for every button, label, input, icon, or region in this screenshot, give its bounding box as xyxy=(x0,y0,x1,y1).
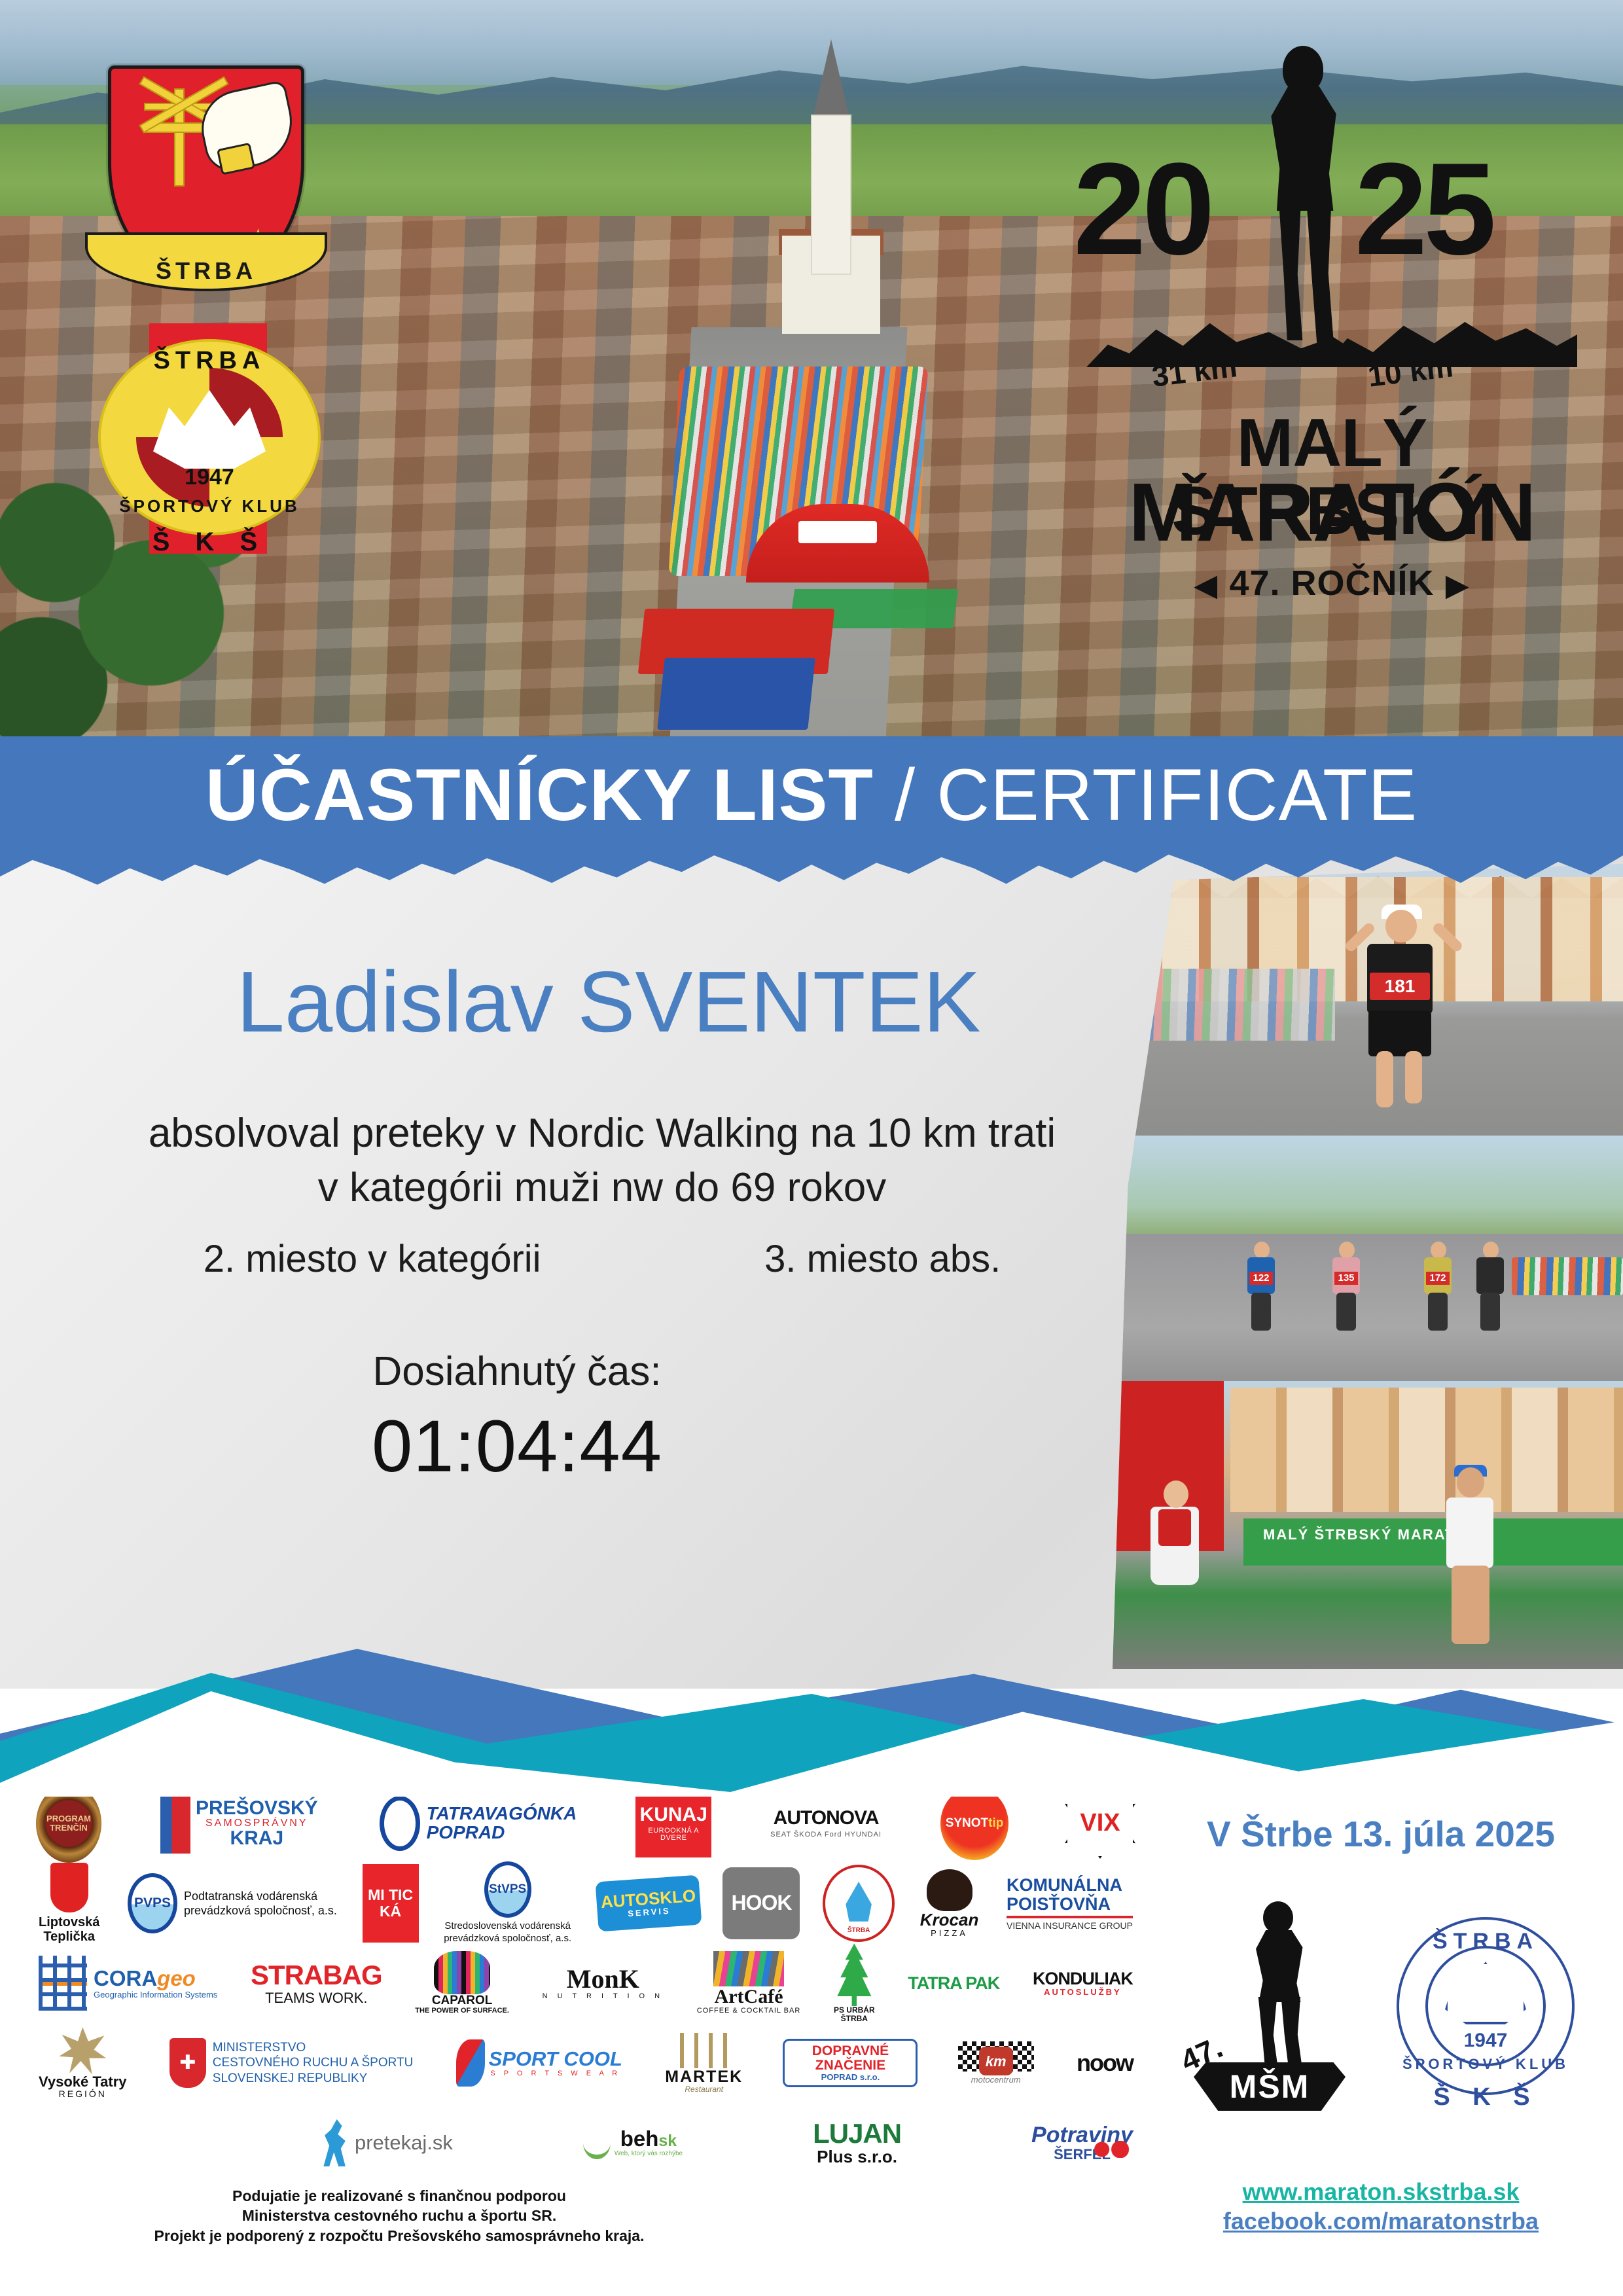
runner-leg-right xyxy=(1405,1051,1422,1103)
sponsor-sub: PIZZA xyxy=(931,1929,968,1938)
sponsor-sub: SERVIS xyxy=(628,1907,671,1918)
sponsor-name: TATRA PAK xyxy=(908,1974,999,1992)
runner-bib-number: 135 xyxy=(1334,1272,1358,1285)
sponsor-potraviny-serfel[interactable]: Potraviny ŠERFEL xyxy=(1029,2124,1135,2162)
sponsor-beh-sk[interactable]: behsk Web, ktorý vás rozhýbe xyxy=(580,2126,685,2159)
sponsor-sub2: SLOVENSKEJ REPUBLIKY xyxy=(213,2072,368,2085)
runner-bib-number: 181 xyxy=(1370,973,1430,1000)
sponsor-sub: Restaurant xyxy=(685,2085,723,2094)
club-abbreviation: Š K Š xyxy=(98,528,321,557)
sponsor-name: CORA xyxy=(94,1966,157,1990)
sponsor-name: MINISTERSTVO xyxy=(213,2041,306,2054)
tree-icon xyxy=(834,1943,874,2006)
sponsor-name: SPORT COOL xyxy=(489,2047,622,2070)
sports-club-emblem: ŠTRBA 1947 ŠPORTOVÝ KLUB Š K Š xyxy=(98,327,321,550)
female-runner: 181 xyxy=(1345,895,1463,1111)
sponsor-name: KOMUNÁLNA xyxy=(1007,1876,1122,1894)
sponsor-name: MARTEK xyxy=(665,2068,743,2085)
sponsor-logo-grid: PROGRAM TRENČÍN PREŠOVSKÝ SAMOSPRÁVNY KR… xyxy=(36,1784,1135,2189)
sponsor-sub: CESTOVNÉHO RUCHU A ŠPORTU xyxy=(213,2056,414,2070)
absolute-placement: 3. miesto abs. xyxy=(764,1237,1001,1281)
funding-line-1: Podujatie je realizované s finančnou pod… xyxy=(26,2186,772,2206)
contact-links: www.maraton.skstrba.sk facebook.com/mara… xyxy=(1165,2177,1597,2236)
sponsor-name: PVPS xyxy=(128,1873,177,1933)
event-name-line2: MARATÓN xyxy=(1073,471,1590,554)
description-line-1: absolvoval preteky v Nordic Walking na 1… xyxy=(92,1106,1113,1160)
runner-shorts xyxy=(1368,1011,1431,1056)
sponsor-sub: Plus s.r.o. xyxy=(817,2148,897,2166)
artcafe-stripes-icon xyxy=(713,1951,784,1986)
website-link[interactable]: www.maraton.skstrba.sk xyxy=(1165,2177,1597,2206)
photo-finish-celebration: 181 xyxy=(1113,864,1623,1145)
sponsor-name: CAPAROL xyxy=(432,1994,493,2007)
sponsor-sub2: Geographic Information Systems xyxy=(94,1990,217,2000)
funding-statement: Podujatie je realizované s finančnou pod… xyxy=(26,2186,772,2246)
certificate-title: ÚČASTNÍCKY LIST / CERTIFICATE xyxy=(205,759,1418,832)
finish-time-value: 01:04:44 xyxy=(92,1404,942,1488)
sponsor-sub: AUTOSLUŽBY xyxy=(1044,1988,1122,1997)
title-english: CERTIFICATE xyxy=(936,754,1418,836)
sponsor-name: MonK xyxy=(567,1965,639,1993)
sponsor-pd-strba[interactable]: ŠTRBA xyxy=(823,1865,895,1942)
sponsor-sub: EUROOKNÁ A DVERE xyxy=(638,1827,709,1842)
runner-group-member: 122 xyxy=(1243,1235,1279,1333)
presov-flame-icon xyxy=(160,1793,190,1854)
event-edition: ◀47. ROČNÍK▶ xyxy=(1073,563,1590,603)
sponsor-footer: PROGRAM TRENČÍN PREŠOVSKÝ SAMOSPRÁVNY KR… xyxy=(0,1767,1623,2296)
arrow-left-icon: ◀ xyxy=(1195,569,1218,602)
runner-bib-number: 172 xyxy=(1426,1272,1450,1285)
sponsor-sub: POPRAD s.r.o. xyxy=(821,2073,880,2082)
footer-right-column: V Štrbe 13. júla 2025 47. MŠM ŠTRBA 1947… xyxy=(1165,1787,1597,2206)
sponsor-sub: POISŤOVŇA xyxy=(1007,1895,1111,1913)
sponsor-name: km xyxy=(979,2047,1013,2075)
sponsor-lujan-plus[interactable]: LUJAN Plus s.r.o. xyxy=(810,2119,904,2166)
sponsor-name: Krocan xyxy=(920,1911,979,1929)
blue-tent xyxy=(657,658,815,730)
msm-badge: 47. MŠM xyxy=(1178,1901,1361,2111)
stamp-top-text: ŠTRBA xyxy=(1387,1929,1584,1954)
sponsor-sub: Podtatranská vodárenská xyxy=(184,1890,317,1903)
sponsor-name: MI TIC KÁ xyxy=(365,1887,416,1920)
folk-costume-girl xyxy=(1139,1473,1211,1604)
sponsor-sub: COFFEE & COCKTAIL BAR xyxy=(697,2007,801,2015)
sponsor-name: STRABAG xyxy=(251,1961,382,1990)
msm-abbreviation: MŠM xyxy=(1194,2062,1346,2111)
sponsor-row: pretekaj.sk behsk Web, ktorý vás rozhýbe… xyxy=(36,2103,1135,2183)
runner-group-member: 172 xyxy=(1420,1235,1455,1333)
sponsor-row: Liptovská Teplička PVPS Podtatranská vod… xyxy=(36,1863,1135,1943)
church-tower xyxy=(811,115,851,275)
sponsor-name: VIX xyxy=(1080,1810,1120,1837)
sponsor-presovsky-kraj[interactable]: PREŠOVSKÝ SAMOSPRÁVNY KRAJ xyxy=(158,1793,321,1854)
sponsor-martek-restaurant[interactable]: MARTEK Restaurant xyxy=(662,2033,745,2094)
runner-silhouette-icon xyxy=(1250,46,1355,353)
funding-line-3: Projekt je podporený z rozpočtu Prešovsk… xyxy=(26,2226,772,2246)
water-drop-icon xyxy=(842,1882,876,1925)
sponsor-sub: motocentrum xyxy=(971,2075,1021,2085)
issue-date: V Štrbe 13. júla 2025 xyxy=(1165,1813,1597,1855)
sponsor-tatrapak[interactable]: TATRA PAK xyxy=(905,1974,1002,1992)
sponsor-name: ArtCafé xyxy=(715,1986,783,2007)
sponsor-name: Liptovská xyxy=(39,1915,99,1929)
recipient-name: Ladislav SVENTEK xyxy=(105,959,1113,1045)
sponsor-name: KONDULIAK xyxy=(1033,1969,1133,1988)
arrow-right-icon: ▶ xyxy=(1446,569,1469,602)
finish-time-label: Dosiahnutý čas: xyxy=(92,1348,942,1395)
event-edition-text: 47. ROČNÍK xyxy=(1229,564,1434,603)
sponsor-row: CORAgeo Geographic Information Systems S… xyxy=(36,1943,1135,2023)
runner-pack xyxy=(1512,1257,1623,1295)
runner-head xyxy=(1385,910,1417,942)
start-arch-label: ŠTART xyxy=(813,522,863,539)
sponsor-name: HOOK xyxy=(731,1892,791,1914)
sponsor-sub: sk xyxy=(658,2132,677,2150)
sponsor-miticka[interactable]: MI TIC KÁ xyxy=(363,1864,419,1943)
turkey-icon xyxy=(927,1869,972,1911)
edelweiss-icon xyxy=(59,2027,106,2074)
sponsor-name: noow xyxy=(1077,2051,1133,2075)
club-bottom-text: ŠPORTOVÝ KLUB xyxy=(98,496,321,516)
sponsor-autonova[interactable]: AUTONOVA SEAT ŠKODA Ford HYUNDAI xyxy=(768,1808,884,1839)
sponsor-sub: N U T R I T I O N xyxy=(543,1993,664,2001)
sks-club-stamp: ŠTRBA 1947 ŠPORTOVÝ KLUB Š K Š xyxy=(1387,1901,1584,2117)
sponsor-pretekaj-sk[interactable]: pretekaj.sk xyxy=(318,2119,455,2166)
photo-course-group: 122 135 172 xyxy=(1113,1136,1623,1391)
sponsor-sub: S P O R T S W E A R xyxy=(489,2070,622,2078)
sponsor-sub: ŠTRBA xyxy=(825,1928,892,1935)
mountain-wave-divider xyxy=(0,1590,1623,1793)
sponsor-name: DOPRAVNÉ ZNAČENIE xyxy=(787,2044,913,2073)
sponsor-sub: Teplička xyxy=(43,1929,95,1944)
runner-leg-left xyxy=(1376,1051,1393,1107)
sponsor-sub2: prevádzková spoločnosť, a.s. xyxy=(444,1933,571,1944)
sponsor-komunalna-poistovna[interactable]: KOMUNÁLNA POISŤOVŇA VIENNA INSURANCE GRO… xyxy=(1004,1876,1135,1930)
sponsor-sub2: Web, ktorý vás rozhýbe xyxy=(615,2151,683,2158)
serfel-dots-icon xyxy=(1094,2141,1139,2158)
sponsor-sub: tip xyxy=(988,1817,1003,1830)
runner-group-member: 135 xyxy=(1329,1235,1364,1333)
sponsor-sub: ŠTRBA xyxy=(841,2015,868,2023)
sponsor-strabag[interactable]: STRABAG TEAMS WORK. xyxy=(248,1961,385,2005)
liptovska-crest-icon xyxy=(50,1863,88,1912)
sponsor-kunaj[interactable]: KUNAJ EUROOKNÁ A DVERE xyxy=(635,1789,711,1857)
sponsor-name: pretekaj.sk xyxy=(355,2132,453,2154)
funding-line-2: Ministerstva cestovného ruchu a športu S… xyxy=(26,2206,772,2225)
sponsor-sub: geo xyxy=(157,1966,196,1990)
sponsor-row: Vysoké Tatry REGIÓN ✚ MINISTERSTVO CESTO… xyxy=(36,2023,1135,2103)
sponsor-sub2: SEAT ŠKODA Ford HYUNDAI xyxy=(770,1831,882,1839)
sponsor-konduliak[interactable]: KONDULIAK AUTOSLUŽBY xyxy=(1030,1969,1135,1997)
sponsor-sub: TEAMS WORK. xyxy=(265,1990,367,2005)
corageo-grid-icon xyxy=(39,1956,87,2011)
sponsor-pvps[interactable]: PVPS Podtatranská vodárenská prevádzková… xyxy=(125,1873,340,1933)
msm-runner-icon xyxy=(1238,1901,1317,2065)
race-photo-collage: 181 122 135 172 xyxy=(1113,864,1623,1669)
sponsor-autosklo-servis[interactable]: AUTOSKLO SERVIS xyxy=(595,1875,702,1932)
sponsor-monk-nutrition[interactable]: MonK N U T R I T I O N xyxy=(540,1965,667,2001)
spectators-crowd xyxy=(1139,969,1335,1041)
divider-line xyxy=(1007,1916,1133,1918)
sponsor-sub: POPRAD xyxy=(427,1822,505,1842)
sponsor-corageo[interactable]: CORAgeo Geographic Information Systems xyxy=(36,1956,220,2011)
runner-arm-right xyxy=(1431,921,1464,953)
sponsor-ps-urbar-strba[interactable]: PS URBÁR ŠTRBA xyxy=(831,1943,878,2022)
marathon-event-logo: 20 25 31 km 10 km MALÝ ŠTRBSKÝ MARATÓN ◀… xyxy=(1073,46,1590,609)
sponsor-sub: TRENČÍN xyxy=(50,1823,88,1833)
title-separator: / xyxy=(874,754,936,836)
runner-bib-number: 122 xyxy=(1249,1272,1273,1285)
sponsor-name: beh xyxy=(620,2126,659,2151)
sponsor-vix[interactable]: VIX xyxy=(1065,1788,1135,1859)
sponsor-tatravagonka-poprad[interactable]: TATRAVAGÓNKA POPRAD xyxy=(377,1796,580,1851)
caparol-elephant-icon xyxy=(434,1951,490,1994)
church-building xyxy=(808,39,854,314)
runner-icon xyxy=(321,2119,349,2166)
sponsor-name: Vysoké Tatry xyxy=(39,2074,127,2089)
sponsor-sub2: prevádzková spoločnosť, a.s. xyxy=(184,1904,337,1917)
stamp-abbreviation: Š K Š xyxy=(1387,2083,1584,2111)
sponsor-ministerstvo[interactable]: ✚ MINISTERSTVO CESTOVNÉHO RUCHU A ŠPORTU… xyxy=(167,2038,416,2088)
sponsor-noow[interactable]: noow xyxy=(1074,2051,1135,2075)
sponsor-km-motocentrum[interactable]: km motocentrum xyxy=(955,2041,1037,2085)
certificate-title-bar: ÚČASTNÍCKY LIST / CERTIFICATE xyxy=(0,736,1623,854)
logo-year-right: 25 xyxy=(1355,144,1492,275)
crest-name-text: ŠTRBA xyxy=(156,257,257,285)
sponsor-name: KUNAJ xyxy=(640,1804,707,1825)
slovak-coat-of-arms-icon: ✚ xyxy=(169,2038,206,2088)
facebook-link[interactable]: facebook.com/maratonstrba xyxy=(1165,2206,1597,2236)
placement-row: 2. miesto v kategórii 3. miesto abs. xyxy=(92,1237,1113,1281)
runner-group-member xyxy=(1472,1235,1508,1333)
sponsor-sub2: KRAJ xyxy=(196,1829,318,1848)
sportcool-swoosh-icon xyxy=(456,2039,485,2087)
club-founding-year: 1947 xyxy=(98,465,321,490)
logo-year-left: 20 xyxy=(1073,144,1211,275)
sponsor-name: PROGRAM xyxy=(46,1814,91,1823)
sponsor-hook[interactable]: HOOK xyxy=(722,1867,800,1939)
sponsor-sub: Stredoslovenská vodárenská xyxy=(444,1920,571,1931)
sponsor-caparol[interactable]: CAPAROL THE POWER OF SURFACE. xyxy=(412,1951,512,2015)
sponsor-sportcool[interactable]: SPORT COOL S P O R T S W E A R xyxy=(454,2039,625,2087)
sponsor-liptovska-teplicka[interactable]: Liptovská Teplička xyxy=(36,1863,102,1944)
description-line-2: v kategórii muži nw do 69 rokov xyxy=(92,1160,1113,1215)
sponsor-name: AUTONOVA xyxy=(774,1808,879,1829)
sponsor-name: TATRAVAGÓNKA xyxy=(427,1803,577,1823)
sponsor-sub: THE POWER OF SURFACE. xyxy=(415,2007,509,2015)
title-slovak: ÚČASTNÍCKY LIST xyxy=(205,754,874,836)
stamp-bottom-text: ŠPORTOVÝ KLUB xyxy=(1387,2056,1584,2073)
achievement-description: absolvoval preteky v Nordic Walking na 1… xyxy=(92,1106,1113,1215)
beh-arc-icon xyxy=(583,2126,611,2159)
sponsor-krocan-pizza[interactable]: Krocan PIZZA xyxy=(918,1869,982,1938)
sponsor-name: PREŠOVSKÝ xyxy=(196,1799,318,1818)
sponsor-dopravne-znacenie[interactable]: DOPRAVNÉ ZNAČENIE POPRAD s.r.o. xyxy=(783,2039,918,2087)
sponsor-name: SYNOT xyxy=(946,1817,988,1830)
category-placement: 2. miesto v kategórii xyxy=(204,1237,541,1281)
sponsor-stvps[interactable]: StVPS Stredoslovenská vodárenská prevádz… xyxy=(441,1861,574,1945)
sponsor-vysoke-tatry[interactable]: Vysoké Tatry REGIÓN xyxy=(36,2027,130,2099)
sponsor-synottip[interactable]: SYNOTtip xyxy=(940,1787,1008,1860)
sponsor-artcafe[interactable]: ArtCafé COFFEE & COCKTAIL BAR xyxy=(694,1951,804,2015)
sponsor-sub2: VIENNA INSURANCE GROUP xyxy=(1007,1921,1133,1931)
sponsor-name: LUJAN xyxy=(813,2119,901,2148)
church-spire xyxy=(813,39,849,118)
sponsor-sub: REGIÓN xyxy=(59,2089,107,2099)
tatravagonka-ellipse-icon xyxy=(380,1796,420,1851)
stamp-year: 1947 xyxy=(1387,2030,1584,2052)
cutlery-icon xyxy=(680,2033,728,2068)
club-top-text: ŠTRBA xyxy=(98,347,321,375)
sponsor-name: StVPS xyxy=(484,1861,531,1918)
